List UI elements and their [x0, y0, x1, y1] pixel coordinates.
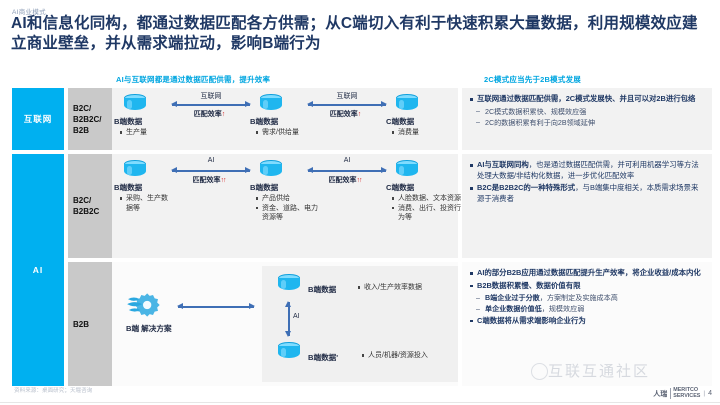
flow-arrow: [308, 104, 386, 106]
node-label: C端数据: [386, 116, 414, 127]
footer-divider: [0, 402, 720, 403]
note-bullet: AI与互联网同构，也是通过数据匹配供需，并可利用机器学习等方法处理大数据/非结构…: [470, 160, 705, 181]
model-label-row1: B2C/ B2B2C/ B2B: [68, 88, 112, 150]
note-subbullet: 单企业数据价值低，规模效应弱: [470, 304, 705, 314]
arrow-bottom-label: 匹配效率↑: [170, 109, 248, 119]
diagram-panel-internet: B端数据 生产量 互联网 匹配效率↑ B端数据 需求/供给量 互联网 匹配效率↑…: [112, 88, 458, 150]
node-bullets: 需求/供给量: [256, 128, 299, 138]
database-icon: [278, 342, 300, 361]
smiley-icon: [531, 363, 548, 380]
database-icon: [396, 94, 418, 113]
node-bullets: 收入/生产效率数据: [358, 283, 462, 293]
diagram-panel-ai-b2c: B端数据 采购、生产数据等 AI 匹配效率↑↑ B端数据 产品供给 资金、道路、…: [112, 154, 458, 258]
page-title: AI和信息化同构，都通过数据匹配各方供需；从C端切入有利于快速积累大量数据，利用…: [11, 14, 711, 54]
database-icon: [260, 160, 282, 179]
note-bullet: B2C是B2B2C的一种特殊形式，与B端集中度相关，本质需求场景来源于消费者: [470, 183, 705, 204]
model-label-row2: B2C/ B2B2C: [68, 154, 112, 258]
category-internet: 互联网: [12, 88, 64, 150]
source-note: 资料来源：桌面研究；天堰咨询: [14, 386, 92, 394]
flow-arrow: [172, 170, 250, 172]
node-bullets: 人脸数据、文本资源 消费、出行、投资行为等: [392, 194, 464, 223]
note-subbullet: 2C模式数据积累快、规模效应强: [470, 107, 705, 117]
arrow-top-label: 互联网: [308, 91, 386, 101]
database-icon: [260, 94, 282, 113]
arrow-bottom-label: 匹配效率↑: [306, 109, 384, 119]
database-icon: [124, 160, 146, 179]
node-label: B端数据: [114, 182, 142, 193]
node-label: B端数据: [114, 116, 142, 127]
brand-logo: 人瑞 MERITCOSERVICES | 4: [653, 388, 712, 399]
node-label: B端数据': [308, 352, 338, 363]
flow-arrow: [178, 306, 254, 308]
flow-arrow: [308, 170, 386, 172]
note-bullet: AI的部分B2B应用通过数据匹配提升生产效率，将企业收益/成本内化: [470, 268, 705, 279]
right-column-header: 2C模式应当先于2B模式发展: [484, 74, 581, 85]
brand-name-en: MERITCOSERVICES: [670, 388, 700, 399]
node-bullets: 人员/机器/资源投入: [362, 351, 462, 361]
node-label: B端数据: [250, 182, 278, 193]
category-ai: AI: [12, 154, 64, 386]
solution-gear-icon: [126, 290, 160, 320]
node-label: B端数据: [308, 284, 336, 295]
note-bullet: 互联网通过数据匹配供需，2C模式发展快、并且可以对2B进行包络: [470, 94, 705, 105]
notes-panel-ai-b2c: AI与互联网同构，也是通过数据匹配供需，并可利用机器学习等方法处理大数据/非结构…: [462, 154, 712, 258]
note-subbullet: 2C的数据积累有利于向2B领域延伸: [470, 118, 705, 128]
database-icon: [124, 94, 146, 113]
node-bullets: 产品供给 资金、道路、电力资源等: [256, 194, 320, 223]
node-bullets: 生产量: [120, 128, 147, 138]
solution-label: B端 解决方案: [126, 324, 166, 334]
note-subbullet: B端企业过于分散，方案制定及实施成本高: [470, 293, 705, 303]
node-bullets: 采购、生产数据等: [120, 194, 172, 213]
arrow-bottom-label: 匹配效率↑↑: [306, 175, 384, 185]
page-number: 4: [708, 390, 712, 397]
watermark: 互联互通社区: [548, 360, 650, 381]
database-icon: [278, 274, 300, 293]
arrow-top-label: 互联网: [172, 91, 250, 101]
note-bullet: B2B数据积累慢、数据价值有限: [470, 281, 705, 292]
note-bullet: C端数据将从需求端影响企业行为: [470, 316, 705, 327]
node-bullets: 消费量: [392, 128, 419, 138]
slide-canvas: AI商业模式 AI和信息化同构，都通过数据匹配各方供需；从C端切入有利于快速积累…: [0, 0, 720, 405]
brand-separator: |: [703, 390, 705, 397]
brand-name-cn: 人瑞: [653, 389, 667, 399]
database-icon: [396, 160, 418, 179]
notes-panel-internet: 互联网通过数据匹配供需，2C模式发展快、并且可以对2B进行包络 2C模式数据积累…: [462, 88, 712, 150]
diagram-panel-ai-b2b: B端 解决方案 B端数据 收入/生产效率数据 AI B端数据' 人员/机器/资源…: [112, 262, 458, 386]
arrow-bottom-label: 匹配效率↑↑: [170, 175, 248, 185]
arrow-top-label: AI: [308, 157, 386, 164]
arrow-top-label: AI: [172, 157, 250, 164]
model-label-row3: B2B: [68, 262, 112, 386]
node-label: B端数据: [250, 116, 278, 127]
flow-arrow: [172, 104, 250, 106]
arrow-label: AI: [293, 313, 300, 320]
node-label: C端数据: [386, 182, 414, 193]
flow-arrow-vertical: [288, 302, 290, 336]
left-column-header: AI与互联网都是通过数据匹配供需，提升效率: [116, 74, 270, 85]
